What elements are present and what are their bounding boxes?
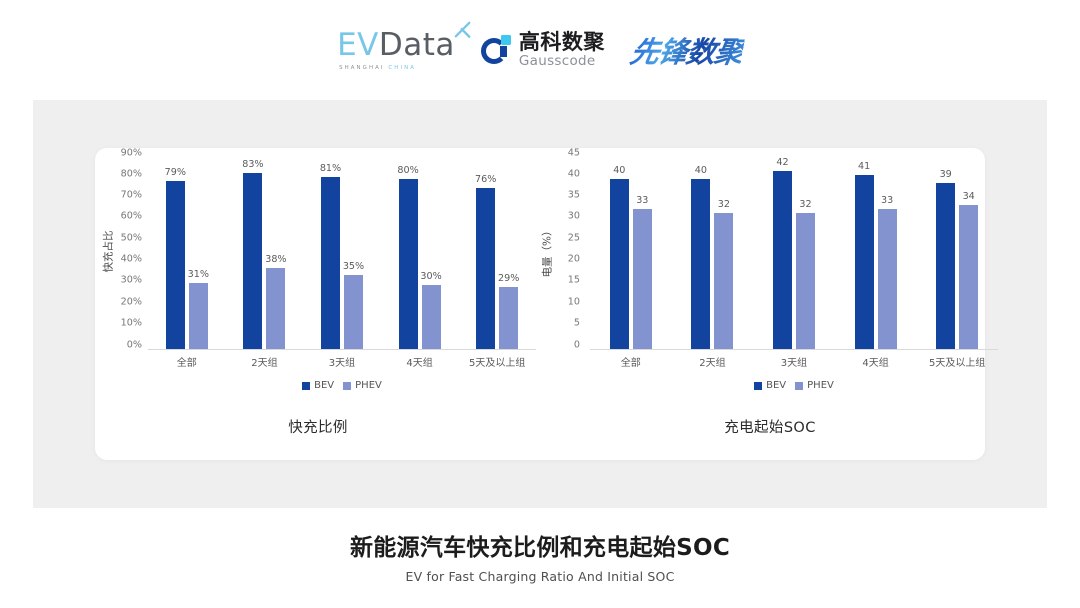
bar-value-label: 40 — [613, 165, 625, 176]
bar-group: 4032 — [672, 158, 754, 349]
bar-value-label: 33 — [881, 195, 893, 206]
bar-phev[interactable]: 34 — [959, 205, 978, 349]
bar-bev[interactable]: 42 — [773, 171, 792, 349]
evdata-tagline: SHANGHAI CHINA — [339, 65, 416, 71]
bar-group: 79%31% — [148, 158, 226, 349]
bar-bev[interactable]: 76% — [476, 188, 495, 349]
bar-group: 83%38% — [226, 158, 304, 349]
y-tick-label: 10% — [121, 318, 142, 329]
bar-phev[interactable]: 32 — [796, 213, 815, 349]
legend-label-phev: PHEV — [807, 380, 834, 391]
legend-item-bev[interactable]: BEV — [754, 380, 786, 391]
bar-value-label: 40 — [695, 165, 707, 176]
y-tick-label: 30% — [121, 275, 142, 286]
y-tick-label: 5 — [574, 318, 580, 329]
bar-value-label: 30% — [420, 271, 441, 282]
bar-bev[interactable]: 41 — [855, 175, 874, 349]
legend-swatch-bev-icon — [302, 382, 310, 390]
bar-value-label: 80% — [397, 165, 418, 176]
bars-area: 79%31%83%38%81%35%80%30%76%29% — [148, 158, 536, 349]
x-axis-line — [148, 349, 536, 350]
bar-value-label: 34 — [963, 191, 975, 202]
y-tick-label: 35 — [568, 190, 580, 201]
gausscode-text-block: 高科数聚 Gausscode — [519, 32, 605, 69]
bar-group: 81%35% — [303, 158, 381, 349]
bar-bev[interactable]: 83% — [243, 173, 262, 349]
bar-bev[interactable]: 40 — [610, 179, 629, 349]
logo-bar: EVData SHANGHAI CHINA 高科数聚 Gausscode — [0, 22, 1080, 78]
gausscode-c-mark-icon — [481, 35, 512, 66]
gausscode-bar-shape — [500, 46, 507, 57]
bar-value-label: 39 — [940, 169, 952, 180]
x-axis-category-label: 5天及以上组 — [916, 354, 998, 369]
gausscode-cn-name: 高科数聚 — [519, 32, 605, 53]
x-axis-category-label: 全部 — [148, 354, 226, 369]
evdata-data-text: Data — [379, 27, 455, 63]
y-tick-label: 10 — [568, 296, 580, 307]
bar-value-label: 76% — [475, 174, 496, 185]
bar-bev[interactable]: 39 — [936, 183, 955, 349]
y-tick-label: 45 — [568, 147, 580, 158]
legend-label-bev: BEV — [766, 380, 786, 391]
chart-legend: BEV PHEV — [590, 380, 998, 391]
gausscode-square-shape — [501, 35, 511, 45]
gausscode-logo: 高科数聚 Gausscode — [481, 32, 605, 69]
bar-group: 3934 — [916, 158, 998, 349]
y-tick-label: 20 — [568, 254, 580, 265]
y-tick-label: 30 — [568, 211, 580, 222]
bar-bev[interactable]: 79% — [166, 181, 185, 349]
gausscode-en-name: Gausscode — [519, 55, 605, 69]
evdata-wordmark: EVData — [337, 30, 455, 61]
x-cross-icon — [454, 21, 472, 39]
x-axis-category-label: 3天组 — [303, 354, 381, 369]
x-axis-category-label: 5天及以上组 — [458, 354, 536, 369]
bar-value-label: 31% — [188, 269, 209, 280]
chart-caption: 快充比例 — [98, 416, 538, 437]
x-axis-category-label: 3天组 — [753, 354, 835, 369]
y-tick-label: 80% — [121, 168, 142, 179]
x-axis-category-label: 2天组 — [672, 354, 754, 369]
y-tick-label: 15 — [568, 275, 580, 286]
x-axis-categories: 全部2天组3天组4天组5天及以上组 — [590, 354, 998, 369]
y-tick-label: 40 — [568, 168, 580, 179]
plot-area: 90% 80% 70% 60% 50% 40% 30% 20% 10% 0% 7… — [98, 158, 538, 350]
legend-item-phev[interactable]: PHEV — [343, 380, 382, 391]
y-tick-label: 0% — [127, 339, 142, 350]
bar-phev[interactable]: 33 — [633, 209, 652, 349]
bar-value-label: 83% — [242, 159, 263, 170]
bar-value-label: 32 — [718, 199, 730, 210]
legend-label-phev: PHEV — [355, 380, 382, 391]
evdata-country: CHINA — [388, 65, 416, 71]
evdata-city: SHANGHAI — [339, 65, 385, 71]
x-axis-category-label: 全部 — [590, 354, 672, 369]
bars-area: 40334032423241333934 — [590, 158, 998, 349]
bar-phev[interactable]: 31% — [189, 283, 208, 349]
bar-bev[interactable]: 40 — [691, 179, 710, 349]
bar-value-label: 79% — [165, 167, 186, 178]
y-tick-label: 70% — [121, 190, 142, 201]
bar-phev[interactable]: 30% — [422, 285, 441, 349]
bar-value-label: 38% — [265, 254, 286, 265]
bar-bev[interactable]: 81% — [321, 177, 340, 349]
page-title: 新能源汽车快充比例和充电起始SOC — [0, 528, 1080, 562]
bar-value-label: 81% — [320, 163, 341, 174]
chart-fast-charging-ratio: 快充占比 90% 80% 70% 60% 50% 40% 30% 20% 10%… — [98, 158, 538, 448]
xianfeng-logo: 先锋数聚 — [627, 29, 746, 71]
legend-label-bev: BEV — [314, 380, 334, 391]
legend-swatch-phev-icon — [795, 382, 803, 390]
chart-caption: 充电起始SOC — [540, 416, 1000, 437]
bar-phev[interactable]: 35% — [344, 275, 363, 349]
x-axis-category-label: 2天组 — [226, 354, 304, 369]
y-tick-label: 40% — [121, 254, 142, 265]
evdata-ev-text: EV — [337, 27, 379, 63]
bar-value-label: 42 — [776, 157, 788, 168]
x-axis-category-label: 4天组 — [835, 354, 917, 369]
bar-phev[interactable]: 33 — [878, 209, 897, 349]
bar-value-label: 32 — [799, 199, 811, 210]
bar-value-label: 35% — [343, 261, 364, 272]
y-tick-label: 25 — [568, 232, 580, 243]
x-axis-categories: 全部2天组3天组4天组5天及以上组 — [148, 354, 536, 369]
bar-value-label: 29% — [498, 273, 519, 284]
bar-phev[interactable]: 32 — [714, 213, 733, 349]
bar-group: 4033 — [590, 158, 672, 349]
x-axis-line — [590, 349, 998, 350]
bar-value-label: 33 — [636, 195, 648, 206]
bar-phev[interactable]: 38% — [266, 268, 285, 349]
bar-group: 76%29% — [458, 158, 536, 349]
legend-swatch-phev-icon — [343, 382, 351, 390]
chart-initial-soc: 电量（%） 45 40 35 30 25 20 15 10 5 0 403340… — [540, 158, 1000, 448]
legend-item-bev[interactable]: BEV — [302, 380, 334, 391]
y-tick-label: 0 — [574, 339, 580, 350]
slide-root: EVData SHANGHAI CHINA 高科数聚 Gausscode — [0, 0, 1080, 608]
bar-group: 4133 — [835, 158, 917, 349]
evdata-logo: EVData SHANGHAI CHINA — [337, 30, 455, 71]
chart-legend: BEV PHEV — [148, 380, 536, 391]
x-axis-category-label: 4天组 — [381, 354, 459, 369]
bar-group: 4232 — [753, 158, 835, 349]
legend-item-phev[interactable]: PHEV — [795, 380, 834, 391]
y-tick-label: 60% — [121, 211, 142, 222]
footer-block: 新能源汽车快充比例和充电起始SOC EV for Fast Charging R… — [0, 528, 1080, 584]
y-tick-label: 20% — [121, 296, 142, 307]
plot-area: 45 40 35 30 25 20 15 10 5 0 403340324232… — [540, 158, 1000, 350]
bar-bev[interactable]: 80% — [399, 179, 418, 349]
legend-swatch-bev-icon — [754, 382, 762, 390]
bar-value-label: 41 — [858, 161, 870, 172]
page-subtitle: EV for Fast Charging Ratio And Initial S… — [0, 569, 1080, 584]
bar-phev[interactable]: 29% — [499, 287, 518, 349]
bar-group: 80%30% — [381, 158, 459, 349]
y-tick-label: 50% — [121, 232, 142, 243]
y-tick-label: 90% — [121, 147, 142, 158]
